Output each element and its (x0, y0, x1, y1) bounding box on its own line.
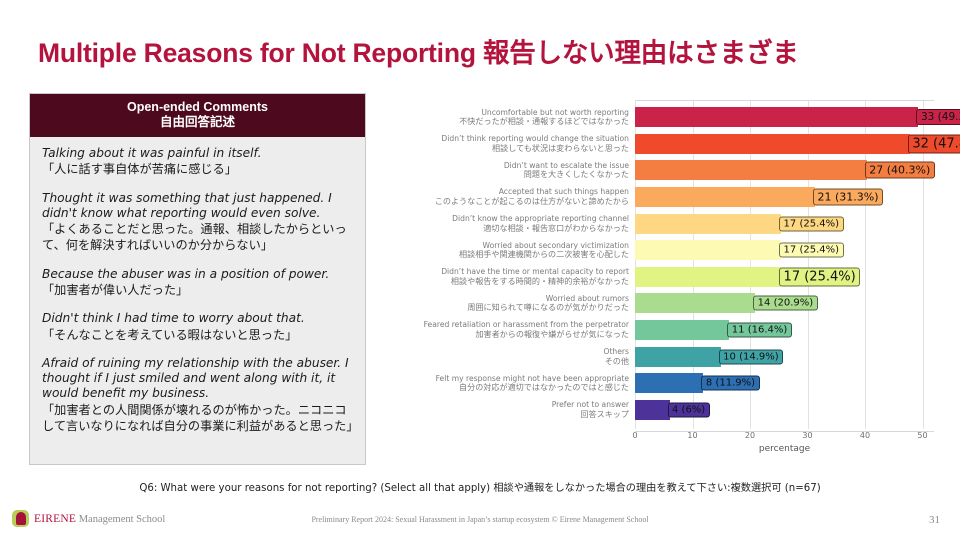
chart-bar-row: Prefer not to answer回答スキップ4 (6%) (386, 397, 934, 424)
bar-category-label-jp: 相談や報告をする時間的・精神的余裕がなかった (386, 277, 629, 287)
chart-bar-row: Didn’t know the appropriate reporting ch… (386, 210, 934, 237)
bar-category-label-jp: 周囲に知られて噂になるのが気がかりだった (386, 303, 629, 313)
bar-track: 4 (6%) (635, 397, 934, 424)
bar[interactable] (635, 347, 721, 367)
bar-track: 11 (16.4%) (635, 317, 934, 344)
bar-category-label: Othersその他 (386, 347, 635, 366)
chart-bar-row: Accepted that such things happenこのようなことが… (386, 184, 934, 211)
x-axis-ticks: 01020304050 (635, 431, 934, 445)
bar-category-label: Didn’t want to escalate the issue問題を大きくし… (386, 161, 635, 180)
bar-value-label: 21 (31.3%) (813, 189, 883, 206)
x-axis-tick-label: 20 (745, 431, 755, 440)
bar-category-label-en: Others (386, 347, 629, 357)
bar-category-label: Feared retaliation or harassment from th… (386, 320, 635, 339)
bar-category-label: Accepted that such things happenこのようなことが… (386, 187, 635, 206)
footer-note: Preliminary Report 2024: Sexual Harassme… (0, 515, 960, 524)
bar[interactable] (635, 160, 867, 180)
bar[interactable] (635, 267, 781, 287)
bar-category-label-jp: 回答スキップ (386, 410, 629, 420)
comment-text-jp: 「よくあることだと思った。通報、相談したからといって、何を解決すればいいのか分か… (42, 221, 354, 254)
bar-category-label: Prefer not to answer回答スキップ (386, 400, 635, 419)
comment-text-en: Didn't think I had time to worry about t… (42, 311, 354, 326)
bar-category-label: Didn’t know the appropriate reporting ch… (386, 214, 635, 233)
bar-value-label: 27 (40.3%) (865, 162, 935, 179)
x-axis-tick-label: 50 (917, 431, 927, 440)
bar-track: 33 (49.3%) (635, 104, 934, 131)
reasons-bar-chart: Uncomfortable but not worth reporting不快だ… (386, 100, 934, 460)
chart-bar-row: Uncomfortable but not worth reporting不快だ… (386, 104, 934, 131)
bar-value-label: 17 (25.4%) (779, 243, 843, 258)
chart-bar-row: Worried about secondary victimization相談相… (386, 237, 934, 264)
bar-category-label: Uncomfortable but not worth reporting不快だ… (386, 108, 635, 127)
bar-category-label: Worried about rumors周囲に知られて噂になるのが気がかりだった (386, 294, 635, 313)
bar-category-label-jp: 加害者からの報復や嫌がらせが気になった (386, 330, 629, 340)
bar-category-label: Worried about secondary victimization相談相… (386, 241, 635, 260)
chart-bar-row: Didn’t think reporting would change the … (386, 131, 934, 158)
chart-bar-row: Worried about rumors周囲に知られて噂になるのが気がかりだった… (386, 290, 934, 317)
bar-track: 32 (47.8%) (635, 131, 934, 158)
x-axis-tick-label: 40 (860, 431, 870, 440)
bar-value-label: 32 (47.8%) (908, 134, 960, 153)
x-axis-tick-label: 30 (802, 431, 812, 440)
bar-track: 17 (25.4%) (635, 237, 934, 264)
bar-category-label: Didn’t have the time or mental capacity … (386, 267, 635, 286)
bar-value-label: 8 (11.9%) (701, 376, 759, 391)
bar[interactable] (635, 134, 910, 154)
bar[interactable] (635, 293, 755, 313)
bar-category-label-jp: 相談しても状況は変わらないと思った (386, 144, 629, 154)
bar-track: 8 (11.9%) (635, 370, 934, 397)
bar[interactable] (635, 240, 781, 260)
chart-caption: Q6: What were your reasons for not repor… (0, 479, 960, 494)
bar[interactable] (635, 214, 781, 234)
bar-category-label-jp: 問題を大きくしたくなかった (386, 170, 629, 180)
bar[interactable] (635, 107, 918, 127)
comment-text-jp: 「加害者との人間関係が壊れるのが怖かった。ニコニコして言いなりになれば自分の事業… (42, 402, 354, 435)
list-item: Afraid of ruining my relationship with t… (42, 356, 354, 434)
bar-value-label: 17 (25.4%) (779, 267, 860, 286)
bar-track: 17 (25.4%) (635, 210, 934, 237)
comments-header-jp: 自由回答記述 (34, 115, 361, 130)
bar-track: 10 (14.9%) (635, 343, 934, 370)
comments-header-en: Open-ended Comments (34, 100, 361, 115)
comment-text-jp: 「加害者が偉い人だった」 (42, 282, 354, 298)
bar-value-label: 33 (49.3%) (916, 109, 960, 125)
bar-category-label-jp: その他 (386, 357, 629, 367)
bar-category-label-jp: 適切な相談・報告窓口がわからなかった (386, 224, 629, 234)
bar-category-label-jp: このようなことが起こるのは仕方がないと諦めたから (386, 197, 629, 207)
chart-bar-row: Didn’t want to escalate the issue問題を大きくし… (386, 157, 934, 184)
chart-bar-row: Felt my response might not have been app… (386, 370, 934, 397)
comment-text-en: Because the abuser was in a position of … (42, 267, 354, 282)
chart-bar-row: Othersその他10 (14.9%) (386, 343, 934, 370)
list-item: Didn't think I had time to worry about t… (42, 311, 354, 343)
bar-category-label: Felt my response might not have been app… (386, 374, 635, 393)
bar[interactable] (635, 400, 670, 420)
bar-value-label: 10 (14.9%) (719, 349, 783, 364)
comments-panel-header: Open-ended Comments 自由回答記述 (30, 94, 365, 137)
comment-text-en: Thought it was something that just happe… (42, 191, 354, 221)
chart-bar-row: Didn’t have the time or mental capacity … (386, 264, 934, 291)
bar-track: 27 (40.3%) (635, 157, 934, 184)
x-axis-tick-label: 0 (632, 431, 637, 440)
bar-track: 17 (25.4%) (635, 264, 934, 291)
chart-bars: Uncomfortable but not worth reporting不快だ… (386, 104, 934, 423)
comment-text-en: Talking about it was painful in itself. (42, 146, 354, 161)
list-item: Because the abuser was in a position of … (42, 267, 354, 299)
bar-track: 14 (20.9%) (635, 290, 934, 317)
bar-category-label-jp: 相談相手や関連機関からの二次被害を心配した (386, 250, 629, 260)
bar-value-label: 11 (16.4%) (727, 323, 791, 338)
bar-track: 21 (31.3%) (635, 184, 934, 211)
chart-bar-row: Feared retaliation or harassment from th… (386, 317, 934, 344)
comment-text-jp: 「人に話す事自体が苦痛に感じる」 (42, 161, 354, 177)
bar-value-label: 17 (25.4%) (779, 216, 843, 231)
page-number: 31 (929, 514, 940, 526)
comment-text-jp: 「そんなことを考えている暇はないと思った」 (42, 327, 354, 343)
bar-category-label-jp: 不快だったが相談・通報するほどではなかった (386, 117, 629, 127)
bar[interactable] (635, 320, 729, 340)
bar[interactable] (635, 373, 703, 393)
x-axis-tick-label: 10 (687, 431, 697, 440)
list-item: Thought it was something that just happe… (42, 191, 354, 254)
bar-category-label: Didn’t think reporting would change the … (386, 134, 635, 153)
bar-value-label: 4 (6%) (668, 402, 710, 417)
open-ended-comments-panel: Open-ended Comments 自由回答記述 Talking about… (29, 93, 366, 465)
bar-value-label: 14 (20.9%) (753, 296, 817, 311)
x-axis-label: percentage (635, 444, 934, 454)
list-item: Talking about it was painful in itself. … (42, 146, 354, 178)
bar-category-label-jp: 自分の対応が適切ではなかったのではと感じた (386, 383, 629, 393)
page-title: Multiple Reasons for Not Reporting 報告しない… (38, 31, 918, 70)
bar[interactable] (635, 187, 815, 207)
comment-text-en: Afraid of ruining my relationship with t… (42, 356, 354, 402)
comments-list: Talking about it was painful in itself. … (30, 137, 365, 451)
